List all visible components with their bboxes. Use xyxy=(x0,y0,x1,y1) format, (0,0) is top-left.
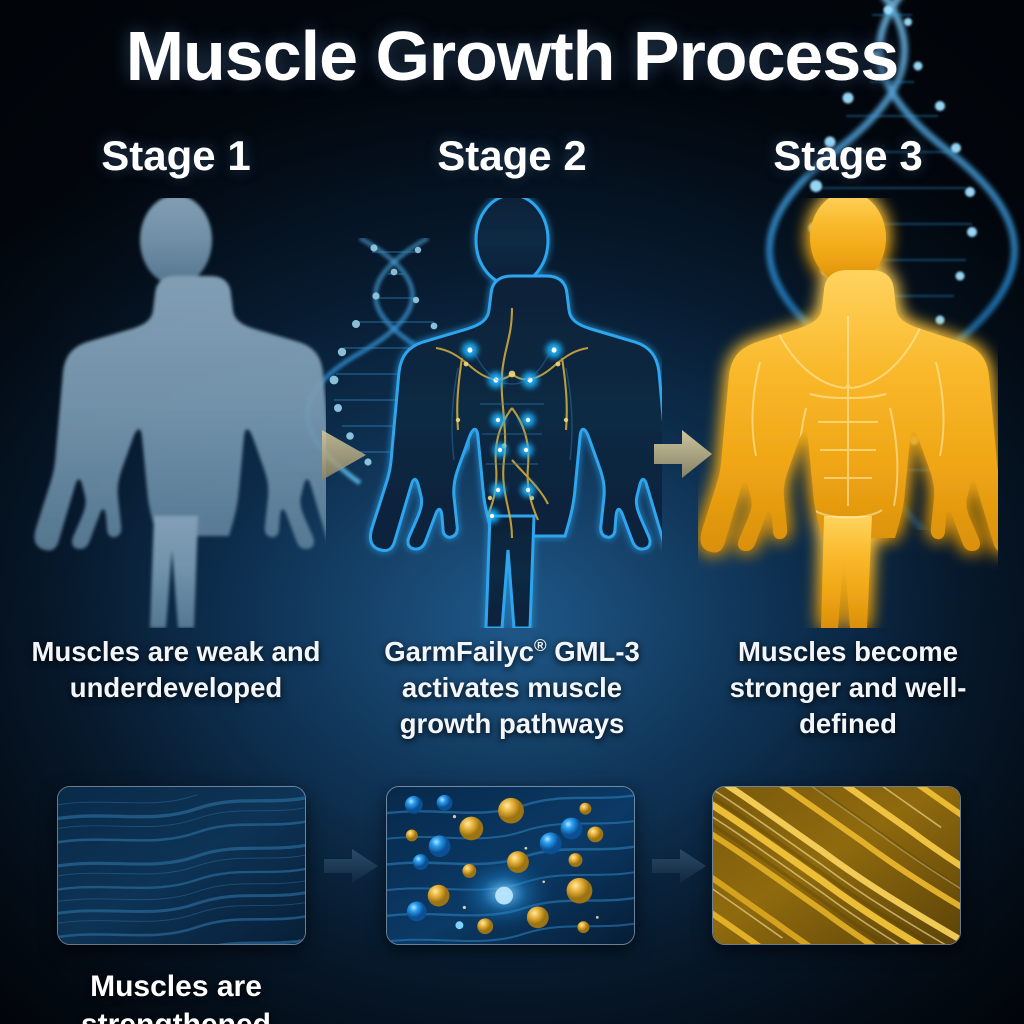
muscle-fiber-texture-gold-panel xyxy=(712,786,961,945)
infographic-poster: Muscle Growth Process Stage 1 xyxy=(0,0,1024,1024)
stage-3-caption: Muscles become stronger and well-defined xyxy=(683,634,1013,741)
stage-1-label: Stage 1 xyxy=(11,128,341,188)
stage-2-caption: GarmFailyc® GML-3 activates muscle growt… xyxy=(347,634,677,741)
bottom-caption-line-2: strengthened xyxy=(11,1006,341,1024)
stage-column-2: Stage 2 xyxy=(347,128,677,741)
stage-1-caption: Muscles are weak and underdeveloped xyxy=(11,634,341,706)
bottom-caption-line-1: Muscles are xyxy=(11,968,341,1006)
stage-2-brand: GarmFailyc xyxy=(384,636,534,667)
registered-mark: ® xyxy=(534,636,547,655)
stage-3-figure-wrap xyxy=(683,198,1013,628)
stage-column-3: Stage 3 xyxy=(683,128,1013,741)
molecule-sphere-texture-image xyxy=(387,787,634,944)
panel-arrow-1-to-2-icon xyxy=(322,848,380,884)
stage-2-label: Stage 2 xyxy=(347,128,677,188)
arrow-stage2-to-stage3-icon xyxy=(652,424,714,484)
muscle-fiber-texture-blue-panel xyxy=(57,786,306,945)
stage-3-label: Stage 3 xyxy=(683,128,1013,188)
muscle-fiber-texture-gold-image xyxy=(713,787,960,944)
stage-2-figure-wrap xyxy=(347,198,677,628)
bottom-caption: Muscles are strengthened xyxy=(11,968,341,1024)
page-title: Muscle Growth Process xyxy=(0,16,1024,96)
stage-column-1: Stage 1 xyxy=(11,128,341,706)
stage-1-figure-wrap xyxy=(11,198,341,628)
texture-panels-row xyxy=(0,786,1024,958)
panel-arrow-2-to-3-icon xyxy=(650,848,708,884)
stage-2-product: GML-3 xyxy=(554,636,640,667)
activated-body-silhouette-icon xyxy=(362,198,662,628)
muscle-fiber-texture-blue-image xyxy=(58,787,305,944)
strong-body-silhouette-icon xyxy=(698,198,998,628)
molecule-sphere-texture-panel xyxy=(386,786,635,945)
arrow-stage1-to-stage2-icon xyxy=(316,424,374,486)
weak-body-silhouette-icon xyxy=(26,198,326,628)
